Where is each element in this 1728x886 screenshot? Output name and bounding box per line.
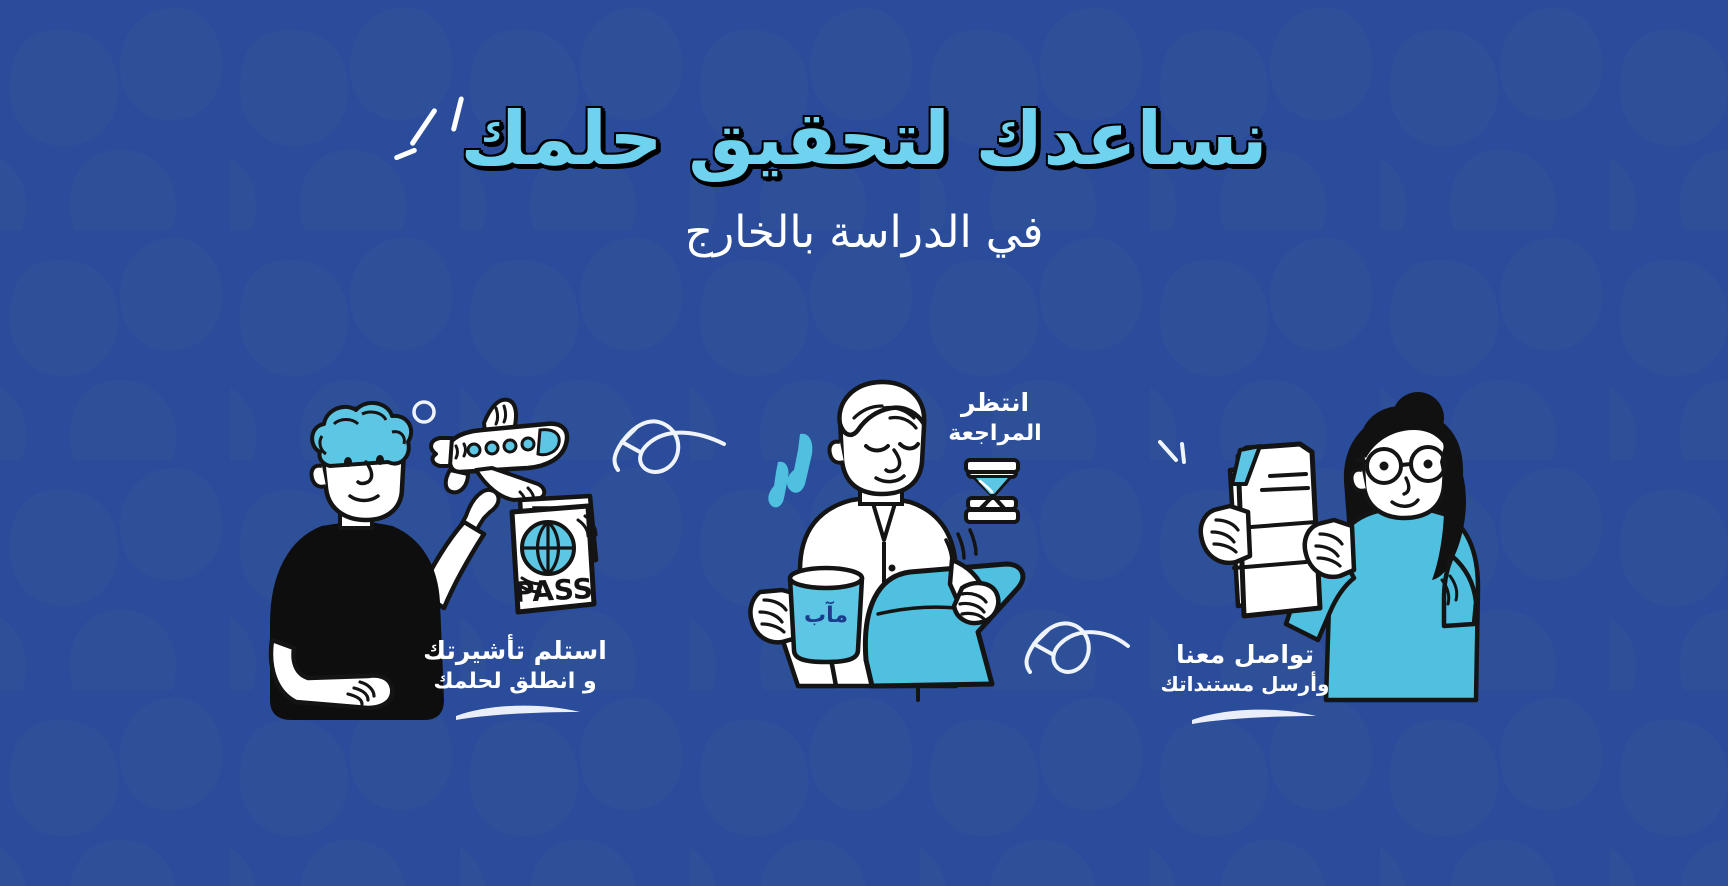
hourglass-icon: [966, 460, 1018, 522]
step-caption-line1: استلم تأشيرتك: [420, 634, 610, 667]
circle-dot-icon: [414, 402, 434, 422]
passport-icon: PASS: [512, 496, 596, 612]
curved-arrow-left-icon: [615, 421, 724, 472]
step-caption-line1: انتظر: [930, 386, 1060, 419]
step-caption-wait: انتظر المراجعة: [930, 386, 1060, 448]
page-subtitle: في الدراسة بالخارج: [0, 205, 1728, 260]
page-title: نساعدك لتحقيق حلمك: [460, 96, 1267, 183]
mug-icon: مآب: [790, 568, 862, 662]
airplane-icon: [431, 400, 567, 504]
step-caption-line2: وأرسل مستنداتك: [1150, 671, 1340, 697]
mug-text: مآب: [804, 600, 848, 628]
step-caption-contact: تواصل معنا وأرسل مستنداتك: [1150, 638, 1340, 697]
hero-banner: نساعدك لتحقيق حلمك في الدراسة بالخارج: [0, 0, 1728, 886]
step-caption-visa: استلم تأشيرتك و انطلق لحلمك: [420, 634, 610, 696]
step-caption-line1: تواصل معنا: [1150, 638, 1340, 671]
cyan-strokes-icon: [768, 434, 812, 508]
underline-swoosh-icon: [456, 706, 1316, 724]
curved-arrow-left-icon: [1027, 623, 1128, 672]
step-caption-line2: المراجعة: [930, 419, 1060, 448]
sparkle-icon: [1160, 442, 1184, 462]
headline-block: نساعدك لتحقيق حلمك في الدراسة بالخارج: [0, 96, 1728, 260]
passport-text: PASS: [513, 572, 593, 609]
step-caption-line2: و انطلق لحلمك: [420, 667, 610, 696]
